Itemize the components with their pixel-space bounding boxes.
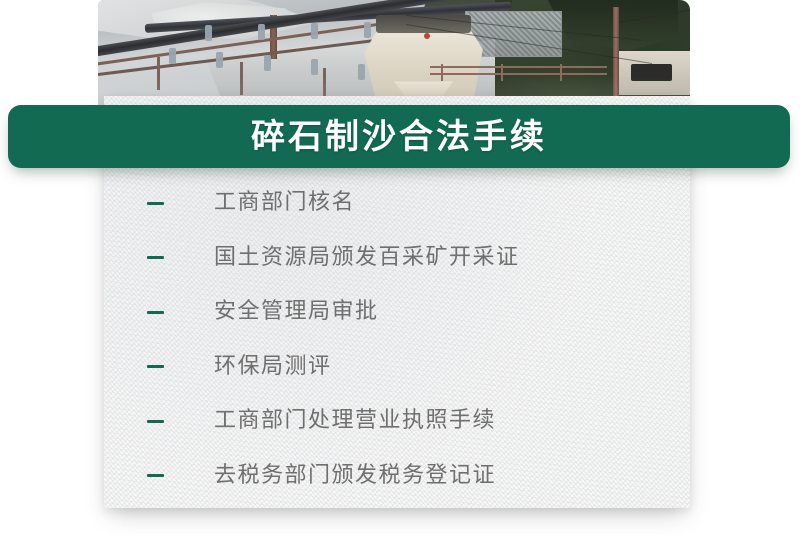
list-item[interactable]: 去税务部门颁发税务登记证 <box>104 449 690 504</box>
list-item[interactable]: 国土资源局颁发百采矿开采证 <box>104 231 690 286</box>
list-item-label: 工商部门处理营业执照手续 <box>214 410 496 432</box>
list-item-label: 安全管理局审批 <box>214 301 379 323</box>
photo-roller <box>264 55 271 71</box>
photo-support-leg <box>323 68 326 99</box>
photo-roller <box>358 64 365 80</box>
procedure-list: 工商部门核名 国土资源局颁发百采矿开采证 安全管理局审批 环保局测评 工商部门处… <box>104 176 690 503</box>
list-item[interactable]: 工商部门处理营业执照手续 <box>104 394 690 449</box>
photo-railing-post <box>560 64 562 82</box>
photo-roller <box>205 25 212 41</box>
dash-marker-icon <box>147 202 164 205</box>
list-item[interactable]: 环保局测评 <box>104 340 690 395</box>
photo-roller <box>169 48 176 64</box>
list-item[interactable]: 安全管理局审批 <box>104 285 690 340</box>
dash-marker-icon <box>147 365 164 368</box>
photo-railing-post <box>501 64 503 82</box>
poster-stage: 碎石制沙合法手续 工商部门核名 国土资源局颁发百采矿开采证 安全管理局审批 环保… <box>0 0 800 544</box>
dash-marker-icon <box>147 311 164 314</box>
photo-roller <box>216 52 223 68</box>
dash-marker-icon <box>147 256 164 259</box>
photo-roller <box>258 24 265 40</box>
photo-machine-top-unit <box>376 15 471 33</box>
photo-support-leg <box>240 62 243 95</box>
photo-railing-top <box>430 66 608 68</box>
list-item[interactable]: 工商部门核名 <box>104 176 690 231</box>
title-banner: 碎石制沙合法手续 <box>8 105 790 168</box>
list-item-label: 环保局测评 <box>214 356 332 378</box>
photo-roller <box>364 22 371 38</box>
page-title: 碎石制沙合法手续 <box>251 120 547 154</box>
list-item-label: 国土资源局颁发百采矿开采证 <box>214 247 520 269</box>
quarry-conveyor-photo <box>98 0 690 110</box>
list-item-label: 工商部门核名 <box>214 192 355 214</box>
photo-right-dark-chute <box>631 64 672 82</box>
photo-roller <box>311 59 318 75</box>
header-photo <box>98 0 690 110</box>
photo-roller <box>311 23 318 39</box>
photo-support-leg <box>157 57 160 90</box>
photo-railing-post <box>441 64 443 82</box>
dash-marker-icon <box>147 420 164 423</box>
list-item-label: 去税务部门颁发税务登记证 <box>214 465 496 487</box>
photo-railing-bottom <box>430 73 608 75</box>
photo-machine-badge <box>424 33 430 39</box>
dash-marker-icon <box>147 474 164 477</box>
